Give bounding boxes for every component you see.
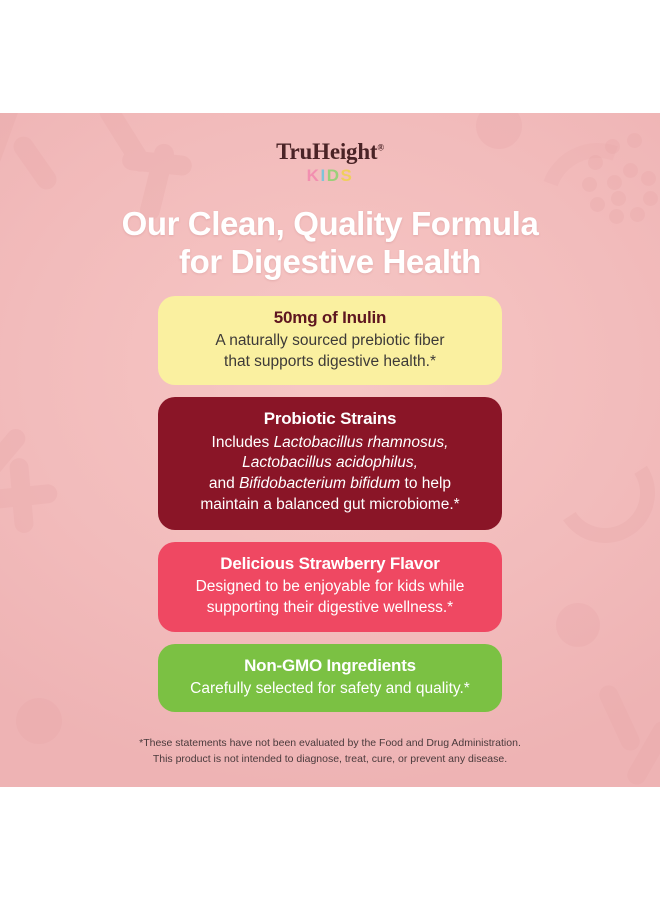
feature-card-body-line-1: Includes Lactobacillus rhamnosus, — [174, 433, 486, 454]
fda-disclaimer-line-2: This product is not intended to diagnose… — [0, 752, 660, 768]
strain-conjunction-text: and — [209, 475, 239, 492]
kids-letter-d: D — [327, 167, 341, 184]
brand-name-part1: Tru — [276, 139, 312, 164]
feature-card-title: Probiotic Strains — [174, 408, 486, 429]
feature-card-strawberry-flavor: Delicious Strawberry Flavor Designed to … — [158, 542, 502, 631]
page-title-line-1: Our Clean, Quality Formula — [0, 205, 660, 243]
registered-trademark-icon: ® — [377, 142, 384, 152]
feature-card-non-gmo: Non-GMO Ingredients Carefully selected f… — [158, 644, 502, 713]
feature-card-title: Non-GMO Ingredients — [174, 655, 486, 676]
crescent-shape-icon — [546, 434, 660, 553]
feature-card-body-line-2: that supports digestive health.* — [174, 352, 486, 373]
feature-card-inulin: 50mg of Inulin A naturally sourced prebi… — [158, 296, 502, 385]
feature-card-body-line-1: Designed to be enjoyable for kids while — [174, 577, 486, 598]
bacteria-shape-icon — [600, 673, 660, 787]
brand-logo: TruHeight® KIDS — [0, 140, 660, 184]
feature-card-body-line-2: Lactobacillus acidophilus, — [174, 453, 486, 474]
strain-name-rhamnosus: Lactobacillus rhamnosus, — [274, 434, 449, 451]
strain-intro-text: Includes — [212, 434, 274, 451]
feature-card-body: Designed to be enjoyable for kids while … — [174, 577, 486, 618]
kids-letter-s: S — [340, 167, 353, 184]
strain-name-acidophilus: Lactobacillus acidophilus, — [242, 454, 418, 471]
kids-letter-k: K — [307, 167, 321, 184]
feature-card-body: Carefully selected for safety and qualit… — [174, 679, 486, 700]
feature-card-body: Includes Lactobacillus rhamnosus, Lactob… — [174, 433, 486, 515]
feature-card-probiotic-strains: Probiotic Strains Includes Lactobacillus… — [158, 397, 502, 530]
feature-card-body-line-3: and Bifidobacterium bifidum to help — [174, 474, 486, 495]
feature-card-title: 50mg of Inulin — [174, 307, 486, 328]
feature-card-body-line-4: maintain a balanced gut microbiome.* — [174, 495, 486, 516]
fda-disclaimer: *These statements have not been evaluate… — [0, 736, 660, 767]
strain-suffix-text: to help — [400, 475, 451, 492]
y-shape-icon — [0, 413, 100, 553]
fda-disclaimer-line-1: *These statements have not been evaluate… — [0, 736, 660, 752]
marketing-graphic: TruHeight® KIDS Our Clean, Quality Formu… — [0, 0, 660, 900]
feature-card-list: 50mg of Inulin A naturally sourced prebi… — [158, 296, 502, 724]
strain-name-bifidum: Bifidobacterium bifidum — [239, 475, 400, 492]
page-title-line-2: for Digestive Health — [0, 243, 660, 281]
brand-wordmark: TruHeight® — [276, 140, 384, 163]
feature-card-body-line-1: Carefully selected for safety and qualit… — [174, 679, 486, 700]
dot-shape-icon — [556, 603, 600, 647]
feature-card-body: A naturally sourced prebiotic fiber that… — [174, 331, 486, 372]
feature-card-body-line-2: supporting their digestive wellness.* — [174, 598, 486, 619]
feature-card-title: Delicious Strawberry Flavor — [174, 553, 486, 574]
brand-name-part2: Height — [312, 139, 377, 164]
page-title: Our Clean, Quality Formula for Digestive… — [0, 205, 660, 282]
brand-kids-wordmark: KIDS — [0, 167, 660, 184]
feature-card-body-line-1: A naturally sourced prebiotic fiber — [174, 331, 486, 352]
